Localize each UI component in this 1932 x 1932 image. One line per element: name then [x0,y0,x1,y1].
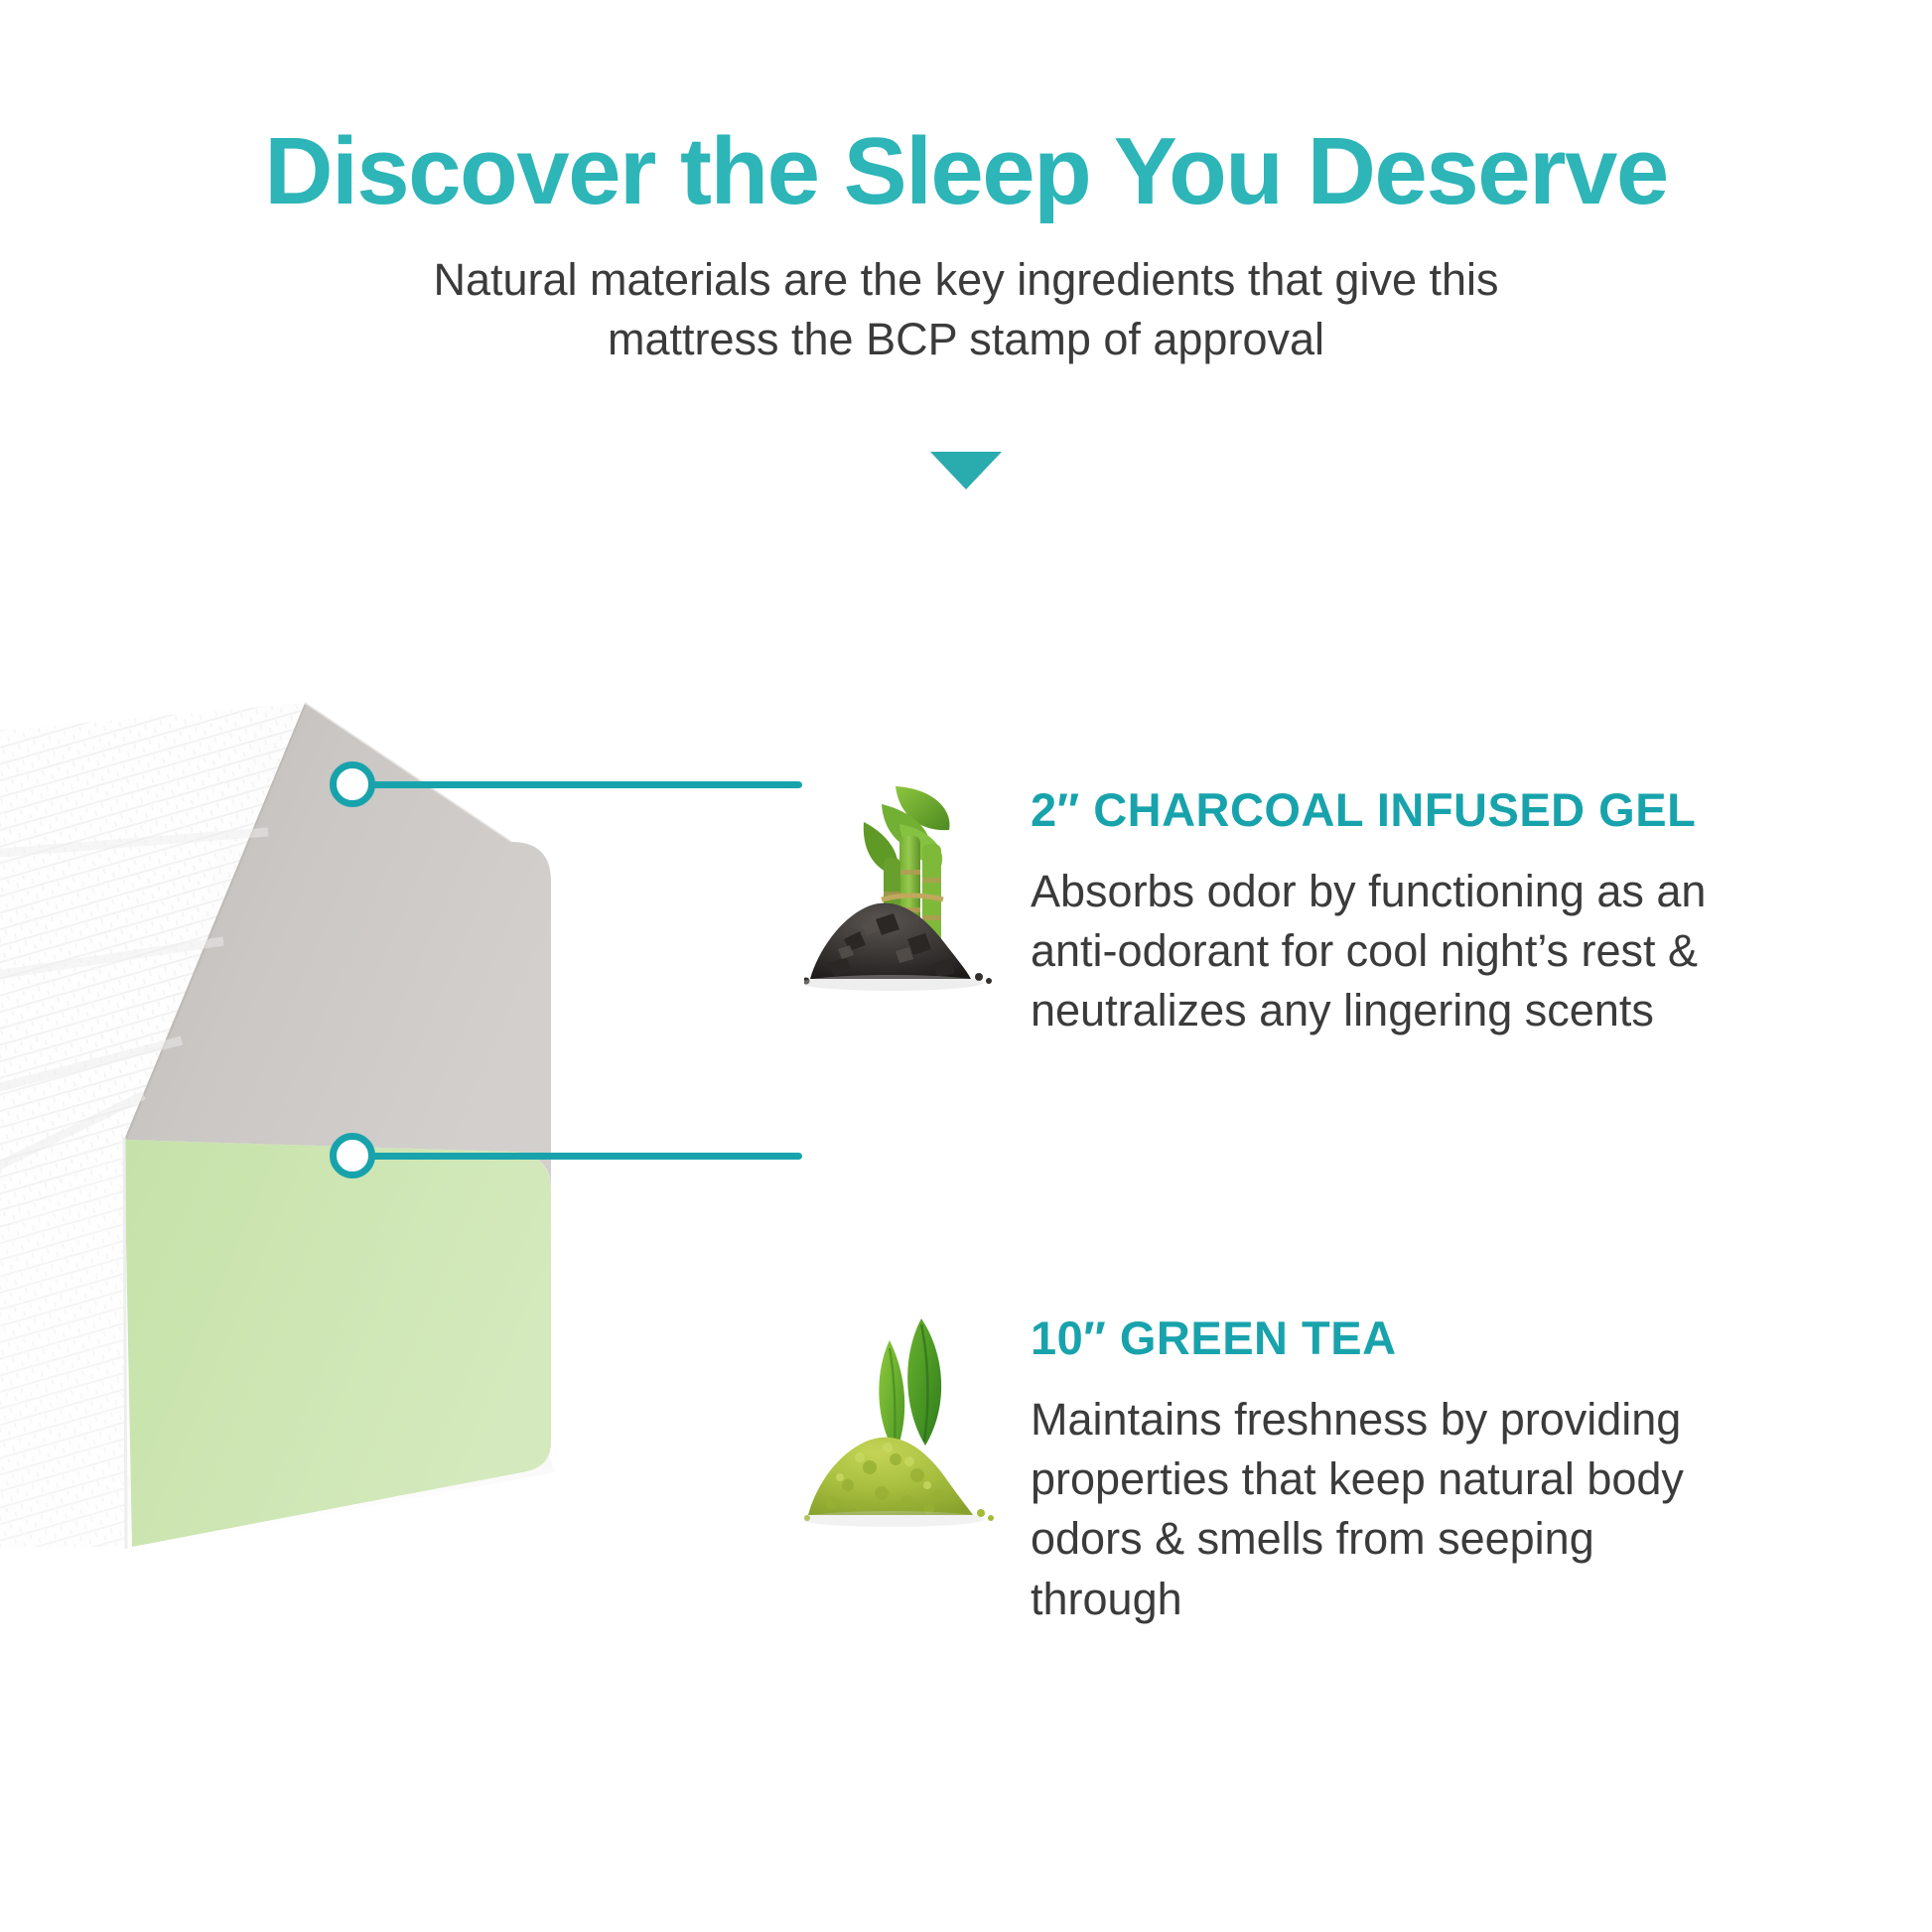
feature-charcoal-infused-gel: 2″ CHARCOAL INFUSED GEL Absorbs odor by … [804,635,1916,1041]
mattress-cutaway-diagram [0,544,750,1557]
callout-line-charcoal [365,781,802,788]
feature-text-green-tea: 10″ GREEN TEA Maintains freshness by pro… [1013,1023,1916,1629]
feature-body-charcoal: Absorbs odor by functioning as an anti-o… [1031,862,1785,1041]
header: Discover the Sleep You Deserve Natural m… [0,0,1932,368]
infographic-page: Discover the Sleep You Deserve Natural m… [0,0,1932,1932]
feature-text-charcoal: 2″ CHARCOAL INFUSED GEL Absorbs odor by … [1013,635,1916,1041]
page-subtitle: Natural materials are the key ingredient… [420,250,1512,369]
chevron-down-icon [930,452,1002,489]
feature-body-green-tea: Maintains freshness by providing propert… [1031,1390,1745,1629]
green-tea-powder-leaves-icon [804,1311,1013,1539]
feature-heading-green-tea: 10″ GREEN TEA [1031,1312,1916,1364]
callout-line-green-tea [365,1153,802,1160]
feature-green-tea: 10″ GREEN TEA Maintains freshness by pro… [804,1023,1916,1629]
charcoal-bamboo-icon [804,774,1013,1003]
page-title: Discover the Sleep You Deserve [0,121,1932,222]
feature-heading-charcoal: 2″ CHARCOAL INFUSED GEL [1031,784,1916,836]
callout-dot-charcoal[interactable] [330,761,375,807]
callout-dot-green-tea[interactable] [330,1133,375,1178]
